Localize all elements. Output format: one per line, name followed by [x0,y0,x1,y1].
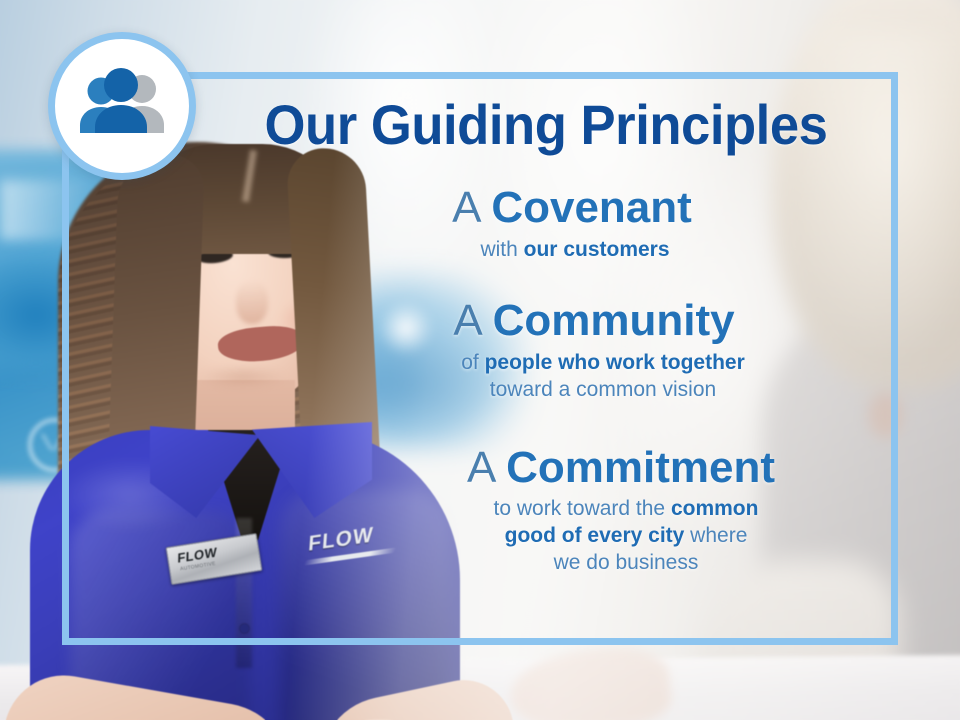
principle-community-subtext: of people who work togethertoward a comm… [326,350,880,404]
page-title: Our Guiding Principles [226,92,865,157]
guiding-principles-banner: FLOW FLOW AUTOMOTIVE [0,0,960,720]
principle-covenant-article: A [452,183,479,232]
principle-covenant-word: Covenant [491,183,691,232]
principle-commitment-article: A [467,443,494,492]
principle-covenant-subtext: with our customers [270,237,880,264]
employee-chin-shadow [200,366,286,388]
principle-community-word: Community [493,296,735,345]
principle-community-article: A [453,296,480,345]
principle-commitment-subtext: to work toward the commongood of every c… [372,496,880,577]
principle-covenant-title: A Covenant [264,184,880,232]
polo-button-bottom [240,624,249,633]
people-group-icon-badge [48,32,196,180]
principle-covenant: A Covenant with our customers [300,184,880,263]
principle-community: A Community of people who work togethert… [300,297,880,403]
principle-commitment-word: Commitment [506,443,775,492]
employee-nose [236,280,268,324]
people-group-icon [74,67,170,145]
principle-commitment: A Commitment to work toward the commongo… [300,444,880,577]
principle-commitment-title: A Commitment [362,444,880,492]
principle-community-title: A Community [308,297,880,345]
principles-list: A Covenant with our customers A Communit… [300,180,880,587]
